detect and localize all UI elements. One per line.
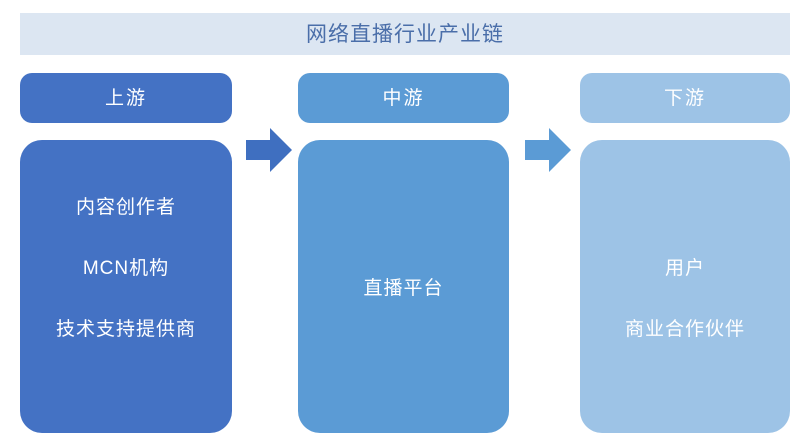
stage-header-midstream[interactable]: 中游 [298,73,509,123]
stage-item: 内容创作者 [76,198,176,217]
stage-item: 技术支持提供商 [56,320,196,339]
diagram-title: 网络直播行业产业链 [306,24,504,45]
arrow-midstream-to-downstream-icon [525,126,571,174]
arrow-upstream-to-midstream-icon [246,126,292,174]
stage-item-list-downstream: 用户 商业合作伙伴 [580,238,790,360]
stage-item-list-midstream: 直播平台 [298,258,509,319]
stage-body-midstream[interactable]: 直播平台 [298,140,509,433]
stage-item: 商业合作伙伴 [625,320,745,339]
stage-item: 用户 [665,259,705,278]
stage-item: 直播平台 [363,279,443,298]
stage-header-label-midstream: 中游 [382,89,424,108]
stage-header-downstream[interactable]: 下游 [580,73,790,123]
stage-item: MCN机构 [83,259,169,278]
diagram-canvas: 网络直播行业产业链 上游 内容创作者 MCN机构 技术支持提供商 中游 直播平台… [0,0,810,445]
diagram-title-band: 网络直播行业产业链 [20,13,790,55]
stage-item-list-upstream: 内容创作者 MCN机构 技术支持提供商 [20,177,232,360]
stage-header-label-downstream: 下游 [664,89,706,108]
stage-header-label-upstream: 上游 [105,89,147,108]
stage-body-downstream[interactable]: 用户 商业合作伙伴 [580,140,790,433]
stage-body-upstream[interactable]: 内容创作者 MCN机构 技术支持提供商 [20,140,232,433]
stage-header-upstream[interactable]: 上游 [20,73,232,123]
